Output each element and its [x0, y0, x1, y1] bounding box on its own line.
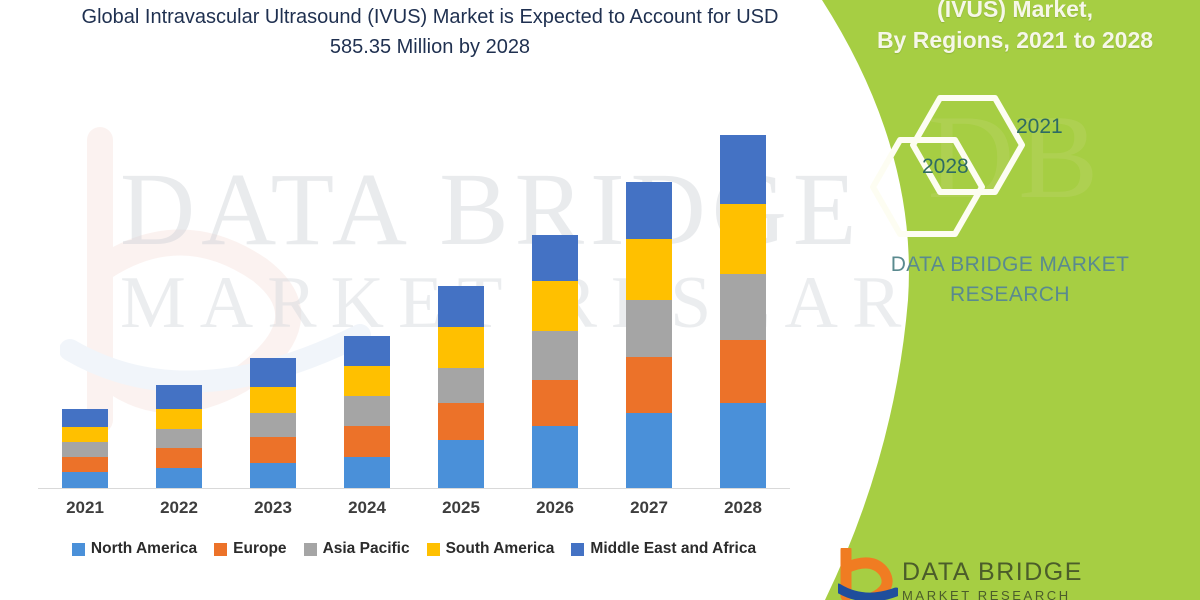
bar-segment: [626, 357, 672, 413]
bar-segment: [532, 235, 578, 281]
bar-segment: [156, 468, 202, 488]
bar-segment: [720, 274, 766, 340]
legend-swatch: [427, 543, 440, 556]
bar-stack: [344, 336, 390, 488]
panel-title-line-1: (IVUS) Market,: [830, 0, 1200, 25]
bar-segment: [344, 336, 390, 366]
bar-group: [696, 100, 790, 488]
panel-title: (IVUS) Market, By Regions, 2021 to 2028: [830, 0, 1200, 56]
bar-segment: [344, 396, 390, 426]
bar-segment: [62, 457, 108, 472]
x-axis-tick-label: 2027: [602, 498, 696, 518]
bar-segment: [344, 366, 390, 396]
bar-segment: [720, 403, 766, 488]
panel-brand-line-2: RESEARCH: [820, 280, 1200, 310]
bar-stack: [720, 135, 766, 488]
panel-brand-line-1: DATA BRIDGE MARKET: [820, 250, 1200, 280]
bar-segment: [250, 413, 296, 437]
x-axis-tick-label: 2023: [226, 498, 320, 518]
bar-segment: [156, 385, 202, 409]
legend-label: South America: [446, 540, 555, 558]
bar-segment: [156, 409, 202, 429]
bar-segment: [344, 426, 390, 457]
bar-group: [226, 100, 320, 488]
x-axis-tick-label: 2025: [414, 498, 508, 518]
bar-segment: [720, 340, 766, 403]
bar-segment: [250, 358, 296, 387]
infographic-root: DATA BRIDGE MARKET RESEARCH Global Intra…: [0, 0, 1200, 600]
panel-title-line-2: By Regions, 2021 to 2028: [830, 25, 1200, 56]
x-axis-labels: 20212022202320242025202620272028: [38, 498, 790, 528]
bar-segment: [438, 368, 484, 403]
bar-group: [414, 100, 508, 488]
legend-swatch: [72, 543, 85, 556]
legend-label: Middle East and Africa: [590, 540, 756, 558]
legend-item[interactable]: North America: [72, 540, 197, 558]
bar-segment: [532, 426, 578, 488]
logo-tagline: MARKET RESEARCH: [902, 588, 1071, 600]
right-green-panel: DB (IVUS) Market, By Regions, 2021 to 20…: [800, 0, 1200, 600]
bar-group: [602, 100, 696, 488]
bar-segment: [720, 135, 766, 204]
x-axis-tick-label: 2022: [132, 498, 226, 518]
legend-label: Asia Pacific: [323, 540, 410, 558]
x-axis-line: [38, 488, 790, 489]
x-axis-tick-label: 2021: [38, 498, 132, 518]
bar-segment: [532, 380, 578, 426]
hexagon-group: 2021 2028: [830, 85, 1130, 245]
logo-name: DATA BRIDGE: [902, 558, 1083, 587]
chart-plot: 20212022202320242025202620272028 North A…: [0, 0, 800, 600]
bar-segment: [438, 327, 484, 368]
bar-segment: [626, 239, 672, 300]
legend-label: North America: [91, 540, 197, 558]
bar-group: [320, 100, 414, 488]
bar-segment: [156, 429, 202, 448]
legend-item[interactable]: Asia Pacific: [304, 540, 410, 558]
bar-stack: [438, 286, 484, 488]
logo-b-mark-icon: [838, 548, 898, 600]
bar-segment: [250, 387, 296, 413]
bar-segment: [532, 331, 578, 380]
bar-group: [38, 100, 132, 488]
bar-series-container: [38, 100, 790, 488]
bar-stack: [532, 235, 578, 488]
bar-segment: [438, 286, 484, 327]
bar-segment: [626, 300, 672, 357]
bar-segment: [438, 440, 484, 488]
chart-legend: North AmericaEuropeAsia PacificSouth Ame…: [38, 540, 790, 558]
legend-swatch: [571, 543, 584, 556]
legend-item[interactable]: Middle East and Africa: [571, 540, 756, 558]
x-axis-tick-label: 2026: [508, 498, 602, 518]
legend-item[interactable]: Europe: [214, 540, 286, 558]
bar-segment: [720, 204, 766, 274]
bar-segment: [62, 442, 108, 457]
bar-segment: [62, 427, 108, 442]
bar-stack: [156, 385, 202, 488]
bar-stack: [250, 358, 296, 488]
bar-segment: [250, 463, 296, 488]
legend-item[interactable]: South America: [427, 540, 555, 558]
bar-segment: [344, 457, 390, 488]
bar-stack: [626, 182, 672, 488]
bar-segment: [250, 437, 296, 463]
bar-segment: [626, 413, 672, 488]
bar-segment: [626, 182, 672, 239]
bar-segment: [156, 448, 202, 468]
panel-brand: DATA BRIDGE MARKET RESEARCH: [820, 250, 1200, 310]
data-bridge-logo: DATA BRIDGE MARKET RESEARCH: [838, 548, 1178, 600]
green-panel-content: DB (IVUS) Market, By Regions, 2021 to 20…: [800, 0, 1200, 600]
bar-group: [132, 100, 226, 488]
hexagon-outlines-icon: [830, 85, 1130, 245]
hexagon-label-2021: 2021: [1016, 115, 1063, 139]
legend-label: Europe: [233, 540, 286, 558]
bar-group: [508, 100, 602, 488]
x-axis-tick-label: 2028: [696, 498, 790, 518]
bar-segment: [62, 409, 108, 427]
bar-segment: [532, 281, 578, 331]
legend-swatch: [304, 543, 317, 556]
bar-segment: [62, 472, 108, 488]
bar-stack: [62, 409, 108, 488]
hexagon-label-2028: 2028: [922, 155, 969, 179]
x-axis-tick-label: 2024: [320, 498, 414, 518]
legend-swatch: [214, 543, 227, 556]
bar-segment: [438, 403, 484, 440]
